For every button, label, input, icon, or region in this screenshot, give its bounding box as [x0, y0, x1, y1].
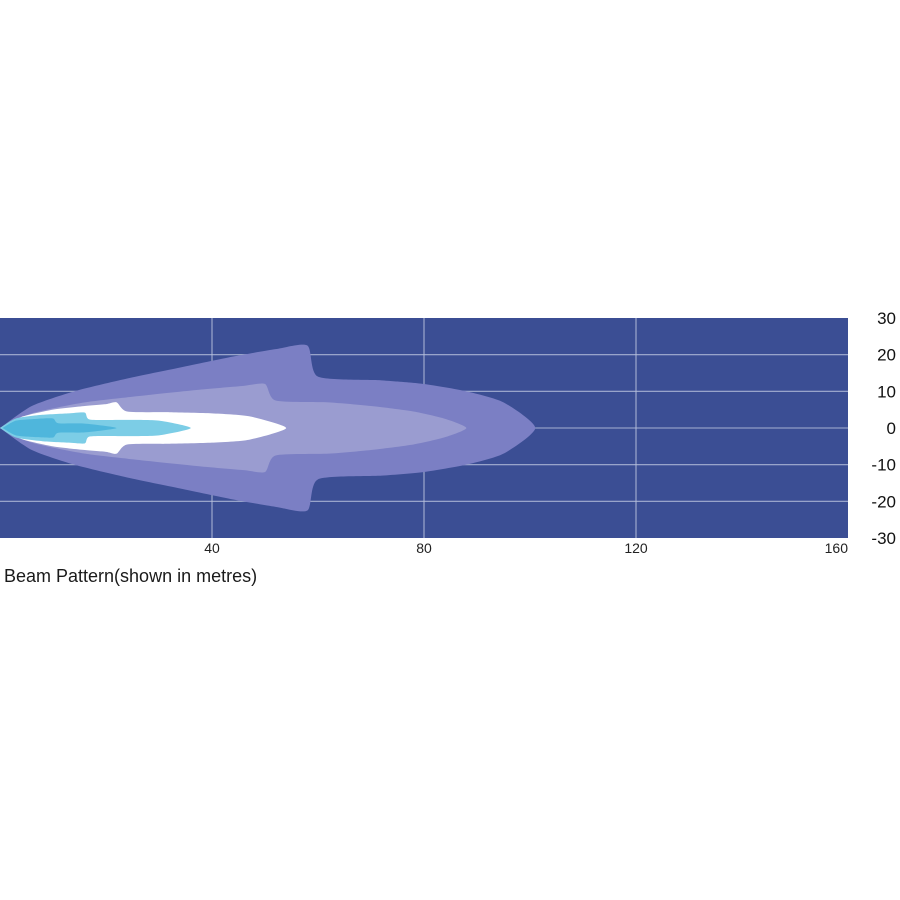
y-tick-label-10: 10	[877, 382, 896, 401]
y-tick-label-neg20: -20	[871, 492, 896, 511]
beam-pattern-figure: 4080120160 3020100-10-20-30 Beam Pattern…	[0, 0, 900, 900]
y-tick-label-30: 30	[877, 309, 896, 328]
y-tick-label-20: 20	[877, 346, 896, 365]
x-tick-label-160: 160	[825, 540, 849, 556]
chart-caption: Beam Pattern(shown in metres)	[4, 566, 257, 586]
x-tick-label-120: 120	[624, 540, 648, 556]
beam-pattern-chart: 4080120160 3020100-10-20-30 Beam Pattern…	[0, 0, 900, 900]
x-tick-label-80: 80	[416, 540, 432, 556]
y-tick-label-0: 0	[887, 419, 896, 438]
x-tick-label-40: 40	[204, 540, 220, 556]
y-tick-label-neg30: -30	[871, 529, 896, 548]
y-tick-label-neg10: -10	[871, 456, 896, 475]
